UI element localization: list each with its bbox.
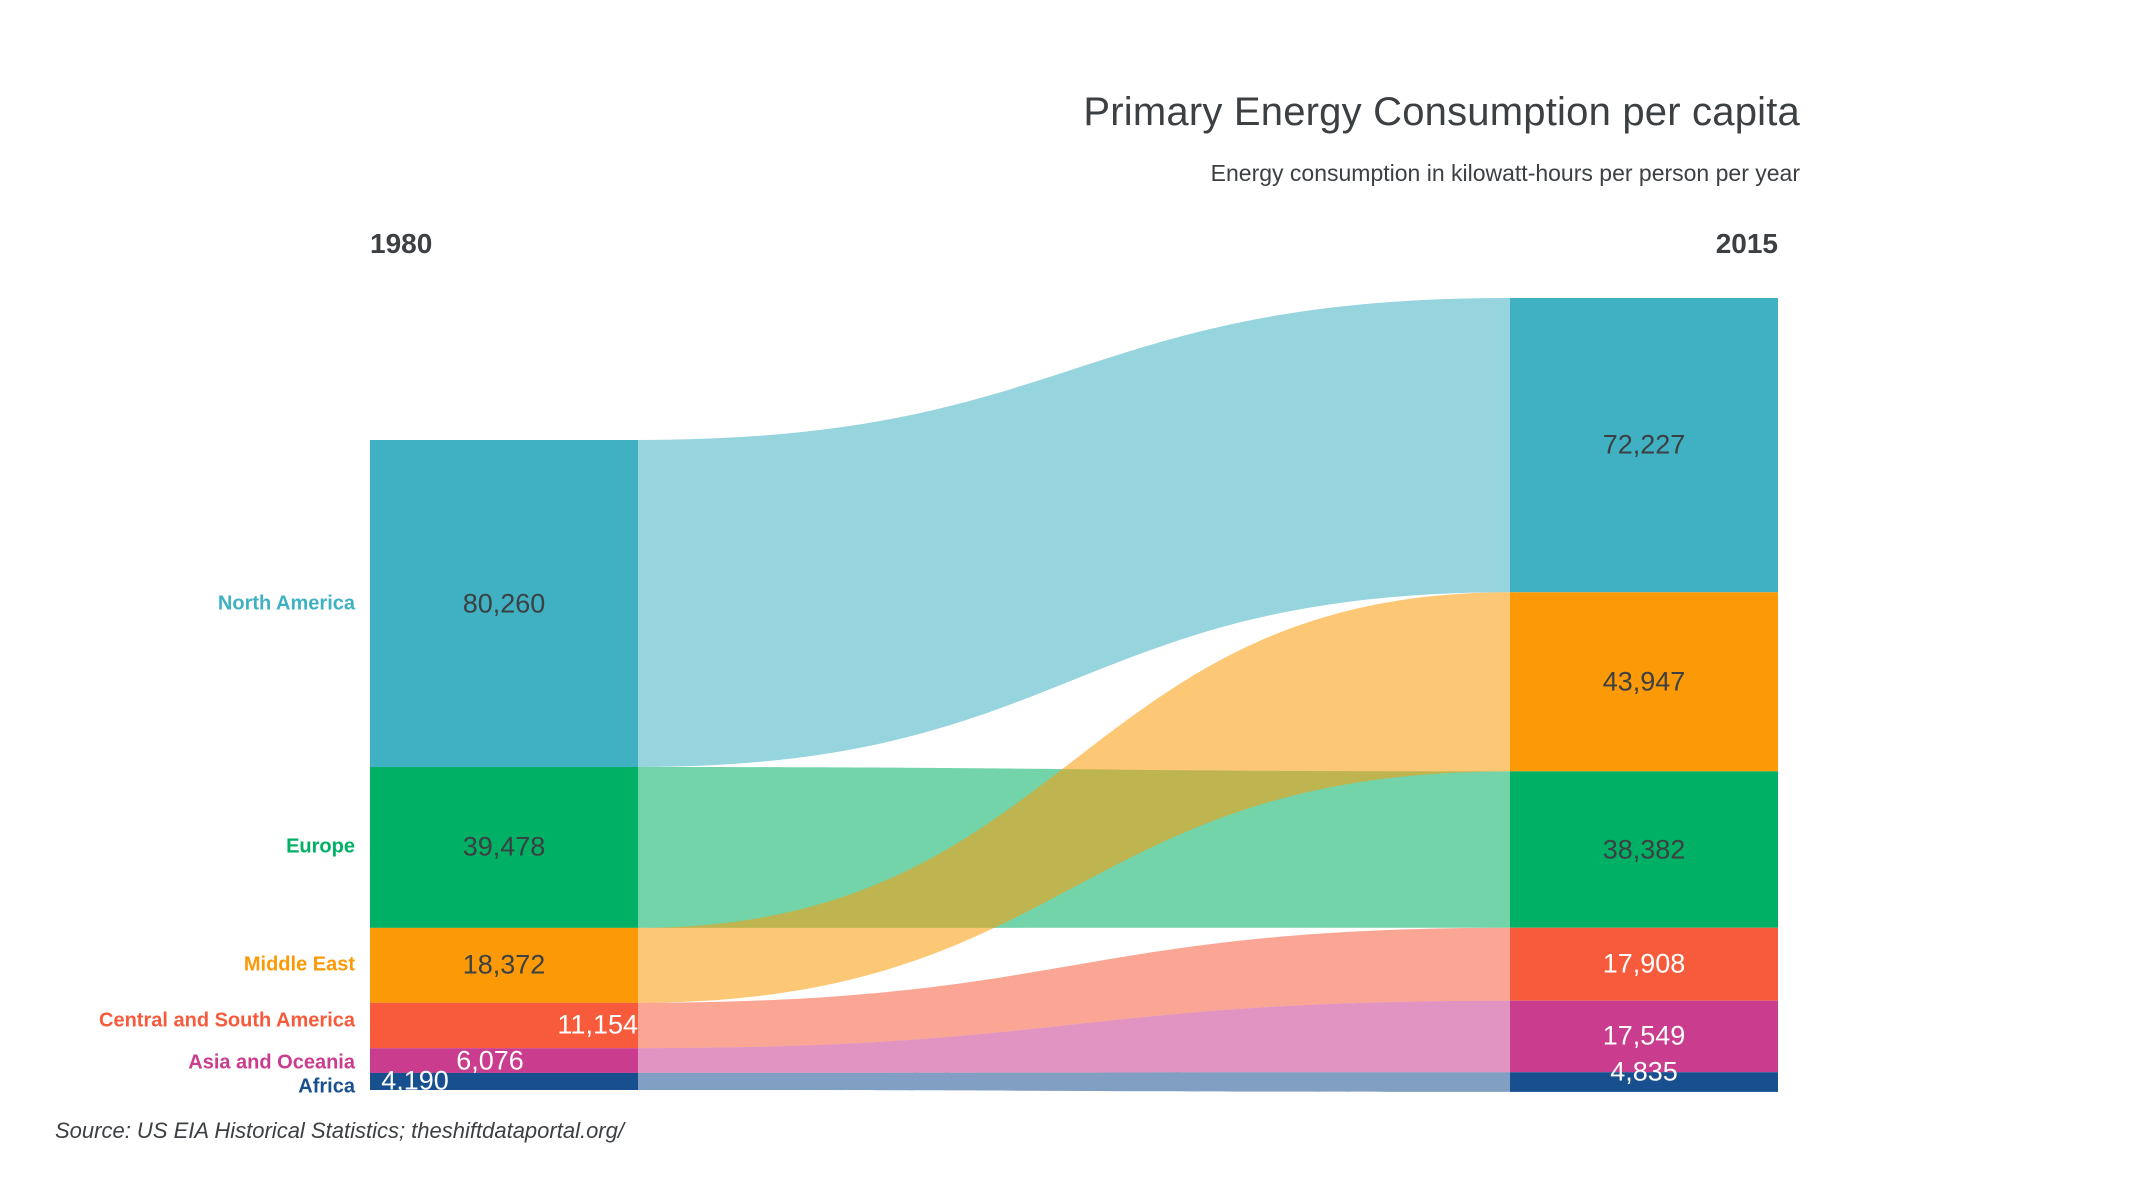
sankey-ribbon-africa: [638, 1072, 1510, 1092]
value-1980-central-and-south-america: 11,154: [370, 1010, 638, 1041]
value-2015-middle-east: 43,947: [1510, 666, 1778, 697]
value-2015-europe: 38,382: [1510, 834, 1778, 865]
value-1980-africa: 4,190: [330, 1066, 500, 1097]
value-2015-asia-and-oceania: 17,549: [1510, 1021, 1778, 1052]
page-subtitle: Energy consumption in kilowatt-hours per…: [0, 160, 1800, 187]
region-label-central-and-south-america: Central and South America: [15, 1010, 355, 1033]
sankey-ribbon-north-america: [638, 298, 1510, 767]
sankey-ribbon-europe: [638, 767, 1510, 928]
region-label-europe: Europe: [15, 836, 355, 859]
source-caption: Source: US EIA Historical Statistics; th…: [55, 1118, 624, 1144]
axis-label-1980: 1980: [370, 228, 432, 260]
page-title: Primary Energy Consumption per capita: [0, 90, 1800, 135]
region-label-north-america: North America: [15, 592, 355, 615]
value-2015-central-and-south-america: 17,908: [1510, 949, 1778, 980]
sankey-ribbon-asia-oceania: [638, 1001, 1510, 1073]
value-2015-africa: 4,835: [1510, 1057, 1778, 1088]
value-1980-north-america: 80,260: [370, 588, 638, 619]
region-label-middle-east: Middle East: [15, 954, 355, 977]
chart-canvas: Primary Energy Consumption per capita En…: [0, 0, 2133, 1200]
region-label-africa: Africa: [15, 1076, 355, 1099]
sankey-ribbon-middle-east: [638, 592, 1510, 1002]
value-2015-north-america: 72,227: [1510, 430, 1778, 461]
axis-label-2015: 2015: [1478, 228, 1778, 260]
value-1980-europe: 39,478: [370, 832, 638, 863]
region-label-asia-and-oceania: Asia and Oceania: [15, 1051, 355, 1074]
sankey-ribbon-central-south-america: [638, 928, 1510, 1048]
value-1980-middle-east: 18,372: [370, 950, 638, 981]
